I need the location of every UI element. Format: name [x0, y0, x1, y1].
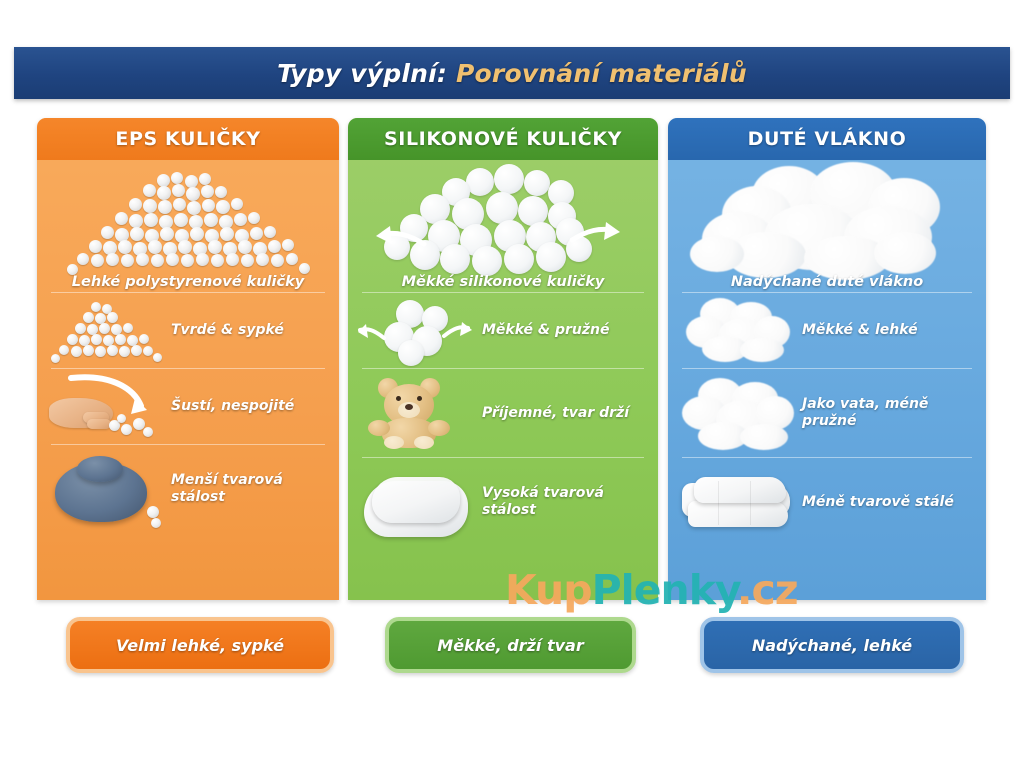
comparison-columns: EPS KULIČKY [0, 118, 1024, 604]
title-banner: Typy výplní: Porovnání materiálů [14, 47, 1010, 99]
feature-row: Menší tvarová stálost [37, 445, 339, 533]
column-eps: EPS KULIČKY [37, 118, 339, 600]
summary-pills: Velmi lehké, sypké Měkké, drží tvar Nadý… [0, 617, 1024, 671]
hero-bead-mound-icon: Lehké polystyrenové kuličky [37, 160, 339, 292]
hero-fiber-cloud-icon: Nadýchané duté vlákno [668, 160, 986, 292]
column-body-silikonove: Měkké silikonové kuličky [348, 160, 658, 600]
feature-label: Šustí, nespojité [165, 398, 294, 415]
column-title: EPS KULIČKY [115, 128, 260, 150]
summary-label: Nadýchané, lehké [752, 636, 912, 655]
feature-row: Měkké & pružné [348, 293, 658, 368]
expand-arrows-icon [348, 160, 658, 292]
feature-label: Méně tvarově stálé [796, 494, 954, 511]
feature-row: Šustí, nespojité [37, 369, 339, 444]
infographic-canvas: Typy výplní: Porovnání materiálů EPS KUL… [0, 0, 1024, 768]
feature-row: Vysoká tvarová stálost [348, 458, 658, 546]
bead-mound-art [37, 160, 339, 292]
column-title: DUTÉ VLÁKNO [748, 128, 907, 150]
column-silikonove: SILIKONOVÉ KULIČKY [348, 118, 658, 600]
teddy-bear-icon [358, 378, 476, 448]
hero-caption: Lehké polystyrenové kuličky [37, 274, 339, 290]
duvet-icon [678, 467, 796, 537]
feature-row: Méně tvarově stálé [668, 458, 986, 546]
column-header-dute-vlakno: DUTÉ VLÁKNO [668, 118, 986, 160]
beanbag-icon [47, 454, 165, 524]
hand-with-beads-icon [47, 372, 165, 442]
feature-row: Příjemné, tvar drží [348, 369, 658, 457]
title-primary: Typy výplní: [277, 59, 447, 88]
page-title: Typy výplní: Porovnání materiálů [277, 59, 747, 88]
feature-label: Příjemné, tvar drží [476, 405, 629, 422]
hero-caption: Měkké silikonové kuličky [348, 274, 658, 290]
feature-label: Měkké & lehké [796, 322, 918, 339]
hero-pompom-heap-icon: Měkké silikonové kuličky [348, 160, 658, 292]
summary-pill-dute-vlakno: Nadýchané, lehké [700, 617, 964, 673]
feature-label: Menší tvarová stálost [165, 472, 329, 505]
pompom-heap-art [348, 160, 658, 292]
stretch-arrows-icon [358, 296, 476, 366]
summary-pill-silikonove: Měkké, drží tvar [385, 617, 636, 673]
fiber-cloud-icon [678, 296, 796, 366]
column-header-eps: EPS KULIČKY [37, 118, 339, 160]
pillow-icon [358, 467, 476, 537]
hero-caption: Nadýchané duté vlákno [668, 274, 986, 290]
column-body-dute-vlakno: Nadýchané duté vlákno Měkké & lehké [668, 160, 986, 600]
title-secondary: Porovnání materiálů [456, 59, 747, 88]
column-header-silikonove: SILIKONOVÉ KULIČKY [348, 118, 658, 160]
bead-pile-icon [47, 296, 165, 366]
feature-row: Jako vata, méně pružné [668, 369, 986, 457]
feature-row: Měkké & lehké [668, 293, 986, 368]
feature-label: Vysoká tvarová stálost [476, 485, 648, 518]
column-title: SILIKONOVÉ KULIČKY [384, 128, 622, 150]
column-body-eps: Lehké polystyrenové kuličky [37, 160, 339, 600]
summary-pill-eps: Velmi lehké, sypké [66, 617, 334, 673]
column-dute-vlakno: DUTÉ VLÁKNO [668, 118, 986, 600]
summary-label: Měkké, drží tvar [437, 636, 583, 655]
fiber-cloud-art [668, 160, 986, 292]
fiber-cloud-icon [678, 378, 796, 448]
summary-label: Velmi lehké, sypké [116, 636, 284, 655]
feature-label: Jako vata, méně pružné [796, 396, 976, 429]
feature-row: Tvrdé & sypké [37, 293, 339, 368]
feature-label: Měkké & pružné [476, 322, 610, 339]
feature-label: Tvrdé & sypké [165, 322, 284, 339]
pompom-cluster-icon [358, 296, 476, 366]
